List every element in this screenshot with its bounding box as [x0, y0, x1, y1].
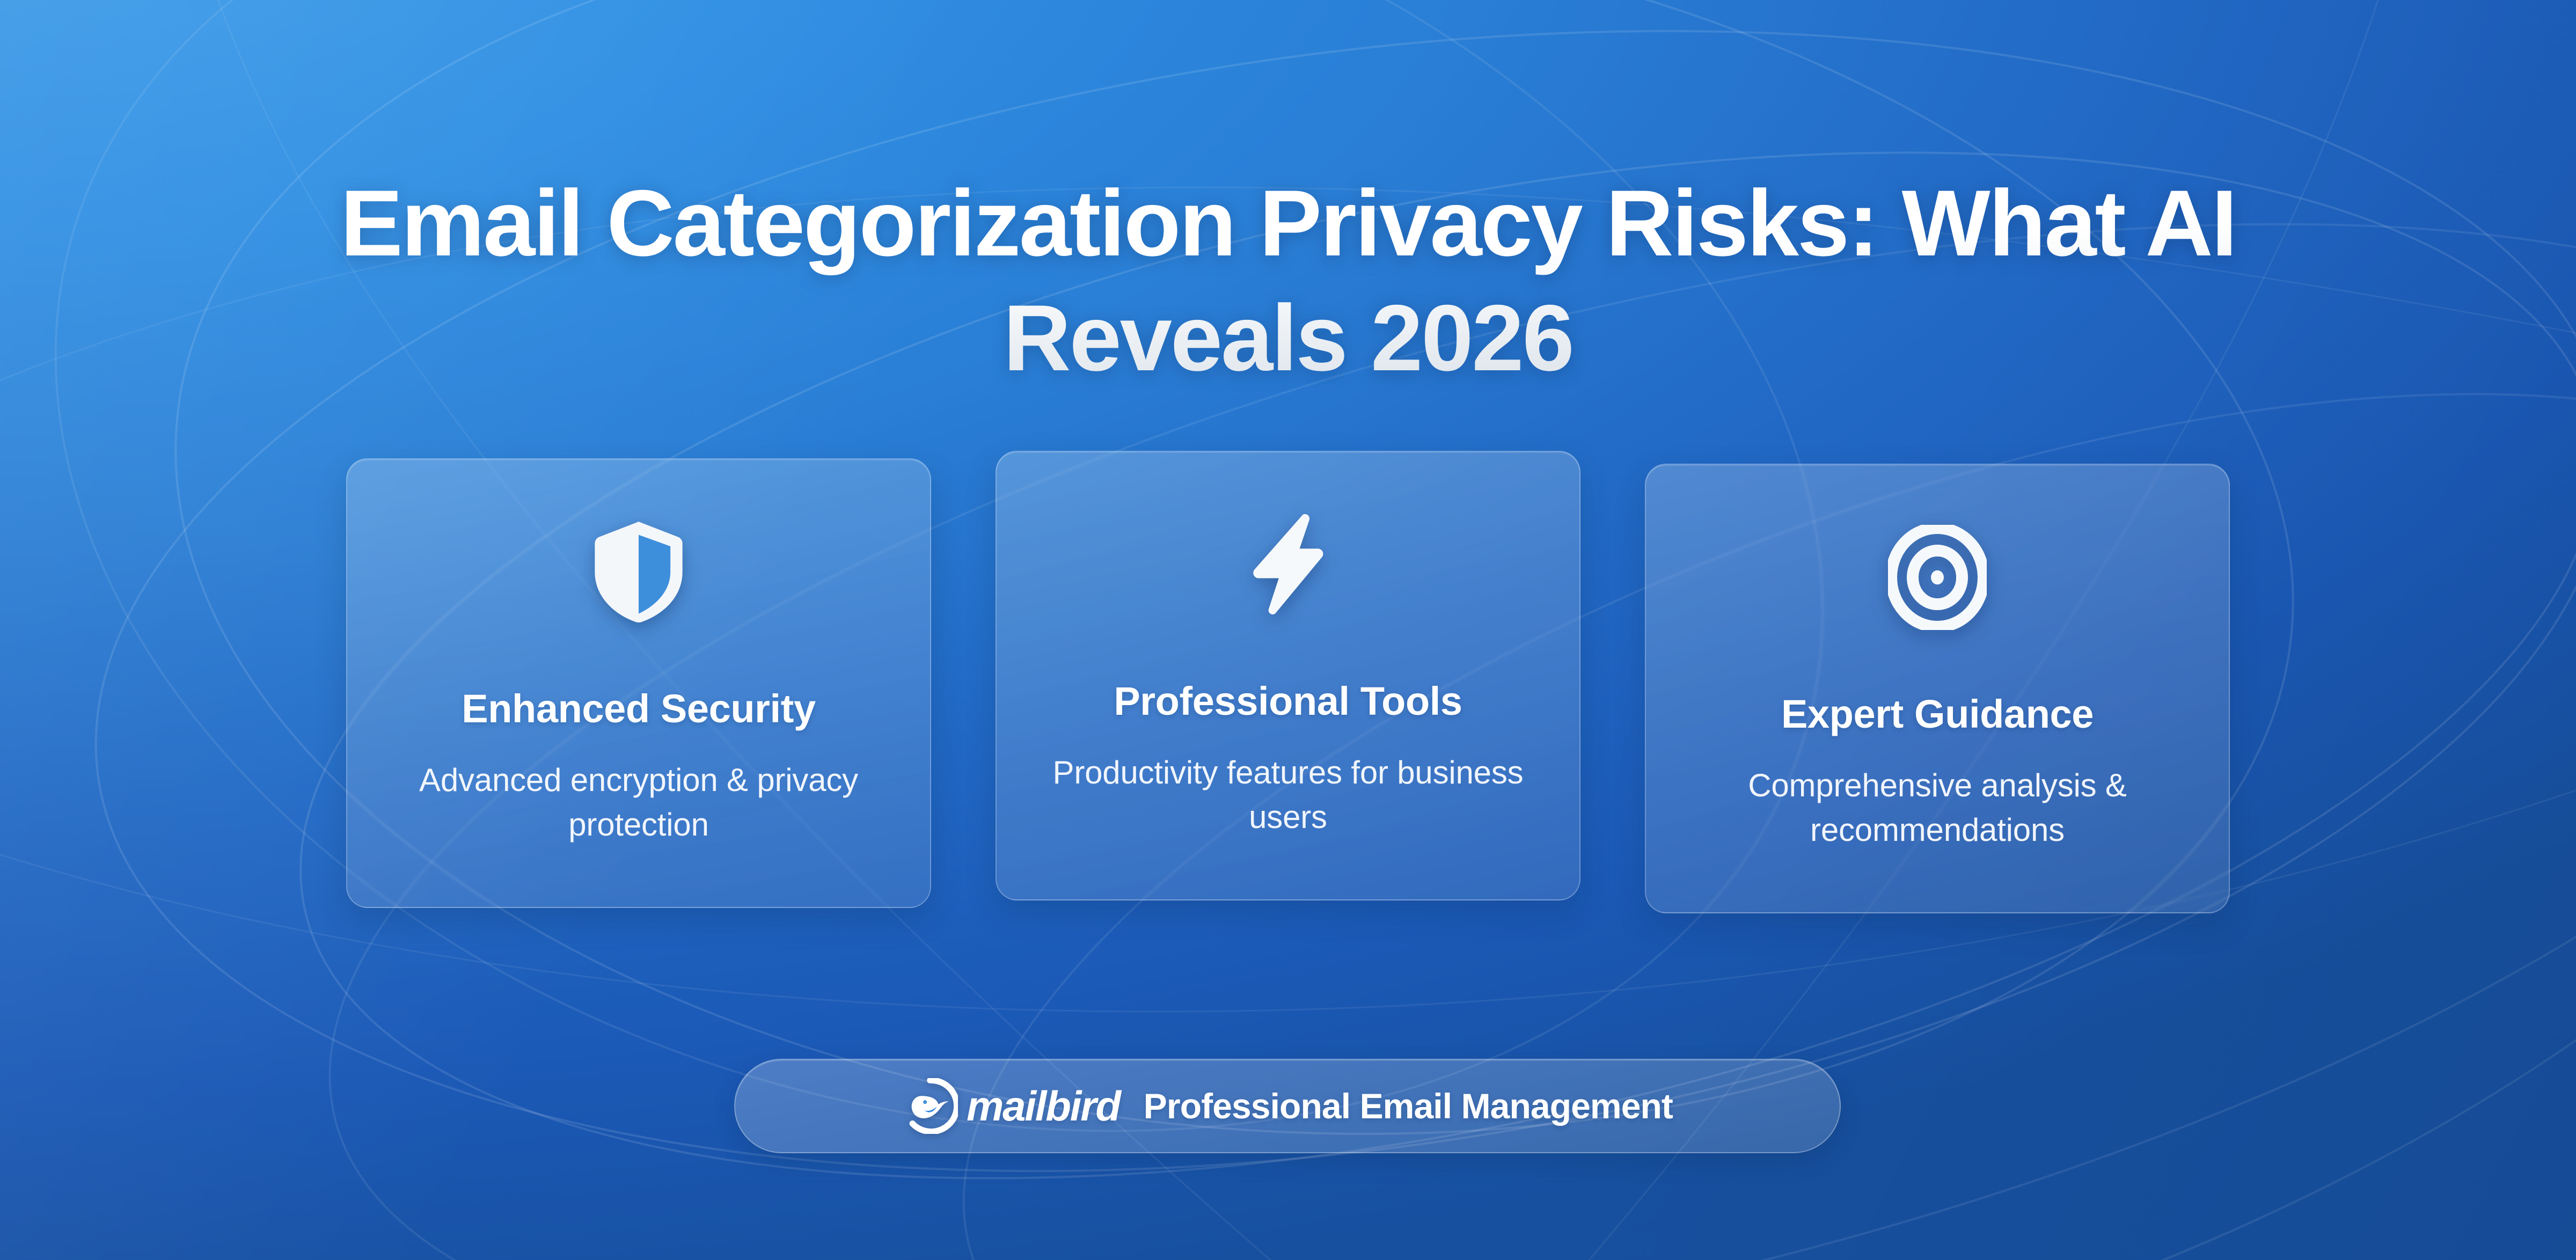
page-title: Email Categorization Privacy Risks: What…: [0, 166, 2576, 395]
feature-card-list: Enhanced Security Advanced encryption & …: [346, 451, 2230, 913]
mailbird-bird-logo-icon: [902, 1078, 958, 1134]
brand-lockup: mailbird: [902, 1078, 1120, 1134]
feature-card-title: Enhanced Security: [462, 687, 815, 730]
shield-icon: [586, 519, 691, 625]
brand-wordmark: mailbird: [967, 1085, 1120, 1127]
target-bullseye-icon: [1885, 525, 1990, 630]
feature-card-description: Comprehensive analysis & recommendations: [1684, 764, 2191, 853]
feature-card-expert-guidance[interactable]: Expert Guidance Comprehensive analysis &…: [1645, 464, 2230, 913]
lightning-bolt-icon: [1235, 512, 1341, 617]
brand-tagline: Professional Email Management: [1144, 1088, 1673, 1124]
feature-card-enhanced-security[interactable]: Enhanced Security Advanced encryption & …: [346, 458, 931, 908]
feature-card-description: Productivity features for business users: [1034, 751, 1542, 840]
feature-card-professional-tools[interactable]: Professional Tools Productivity features…: [996, 451, 1580, 900]
feature-card-description: Advanced encryption & privacy protection: [385, 758, 892, 847]
brand-footer-badge[interactable]: mailbird Professional Email Management: [734, 1059, 1841, 1153]
feature-card-title: Professional Tools: [1114, 679, 1462, 723]
hero-banner: Email Categorization Privacy Risks: What…: [0, 0, 2576, 1260]
feature-card-title: Expert Guidance: [1781, 692, 2094, 736]
